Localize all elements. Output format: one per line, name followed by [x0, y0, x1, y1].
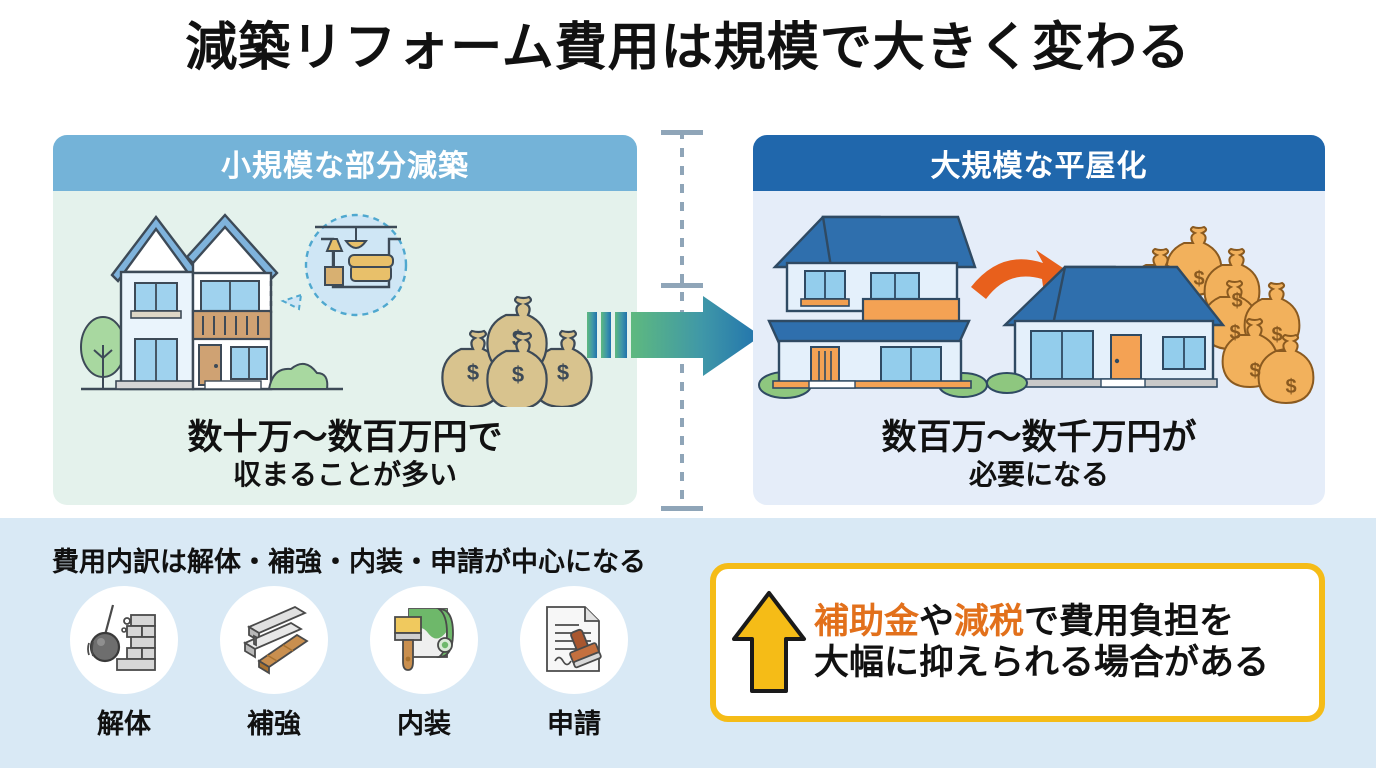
- highlight-subsidy: 補助金: [814, 602, 919, 641]
- card-header-small-scale: 小規模な部分減築: [53, 135, 637, 191]
- svg-text:$: $: [1229, 322, 1240, 344]
- caption-line-2: 必要になる: [753, 458, 1325, 491]
- caption-line-1: 数百万〜数千万円が: [753, 417, 1325, 458]
- callout-conj: や: [919, 602, 954, 641]
- divider-cap-top: [661, 130, 703, 135]
- callout-text: 補助金や減税で費用負担を 大幅に抑えられる場合がある: [814, 602, 1269, 683]
- cost-breakdown-panel: 費用内訳は解体・補強・内装・申請が中心になる: [0, 518, 1376, 768]
- card-header-large-scale: 大規模な平屋化: [753, 135, 1325, 191]
- card-body-large-scale: $ $ $ $ $ $ $ $ $: [753, 191, 1325, 505]
- paint-brush-icon: [383, 599, 465, 681]
- svg-text:$: $: [1249, 360, 1260, 382]
- svg-text:$: $: [1231, 290, 1242, 312]
- svg-text:$: $: [512, 362, 524, 387]
- icon-circle: [220, 586, 328, 694]
- subsidy-callout-box: 補助金や減税で費用負担を 大幅に抑えられる場合がある: [710, 563, 1325, 722]
- breakdown-label: 解体: [97, 702, 151, 741]
- card-caption-large-scale: 数百万〜数千万円が 必要になる: [753, 417, 1325, 491]
- breakdown-label: 内装: [397, 702, 451, 741]
- divider-cap-bottom: [661, 506, 703, 511]
- callout-line-1: 補助金や減税で費用負担を: [814, 602, 1269, 643]
- breakdown-item-reinforcement[interactable]: 補強: [210, 586, 338, 741]
- up-arrow-icon: [730, 589, 808, 697]
- breakdown-label: 補強: [247, 702, 301, 741]
- divider-cap-middle: [661, 283, 703, 288]
- caption-line-1: 数十万〜数百万円で: [53, 417, 637, 458]
- svg-text:$: $: [467, 360, 479, 385]
- svg-text:$: $: [1285, 376, 1296, 398]
- wrecking-ball-icon: [83, 599, 165, 681]
- compare-card-large-scale: 大規模な平屋化: [753, 135, 1325, 505]
- card-body-small-scale: $ $ $ $ 数十万〜数百万円で 収まることが多い: [53, 191, 637, 505]
- breakdown-icons-row: 解体: [60, 586, 638, 741]
- caption-line-2: 収まることが多い: [53, 458, 637, 491]
- icon-circle: [520, 586, 628, 694]
- breakdown-heading: 費用内訳は解体・補強・内装・申請が中心になる: [52, 540, 646, 579]
- breakdown-label: 申請: [547, 702, 601, 741]
- breakdown-item-application[interactable]: 申請: [510, 586, 638, 741]
- transition-arrow-icon: [583, 290, 763, 382]
- svg-text:$: $: [1193, 268, 1204, 290]
- illustration-small-scale: $ $ $ $: [53, 195, 637, 407]
- card-caption-small-scale: 数十万〜数百万円で 収まることが多い: [53, 417, 637, 491]
- steel-beam-icon: [233, 599, 315, 681]
- compare-card-small-scale: 小規模な部分減築: [53, 135, 637, 505]
- page-title: 減築リフォーム費用は規模で大きく変わる: [0, 20, 1376, 77]
- svg-text:$: $: [1271, 324, 1282, 346]
- infographic-canvas: 減築リフォーム費用は規模で大きく変わる 小規模な部分減築: [0, 0, 1376, 768]
- breakdown-item-demolition[interactable]: 解体: [60, 586, 188, 741]
- breakdown-item-interior[interactable]: 内装: [360, 586, 488, 741]
- icon-circle: [370, 586, 478, 694]
- svg-text:$: $: [557, 360, 569, 385]
- highlight-taxcut: 減税: [954, 602, 1024, 641]
- icon-circle: [70, 586, 178, 694]
- callout-line-2: 大幅に抑えられる場合がある: [814, 643, 1269, 684]
- document-stamp-icon: [533, 599, 615, 681]
- callout-tail: で費用負担を: [1024, 602, 1234, 641]
- illustration-large-scale: $ $ $ $ $ $ $ $ $: [753, 195, 1325, 407]
